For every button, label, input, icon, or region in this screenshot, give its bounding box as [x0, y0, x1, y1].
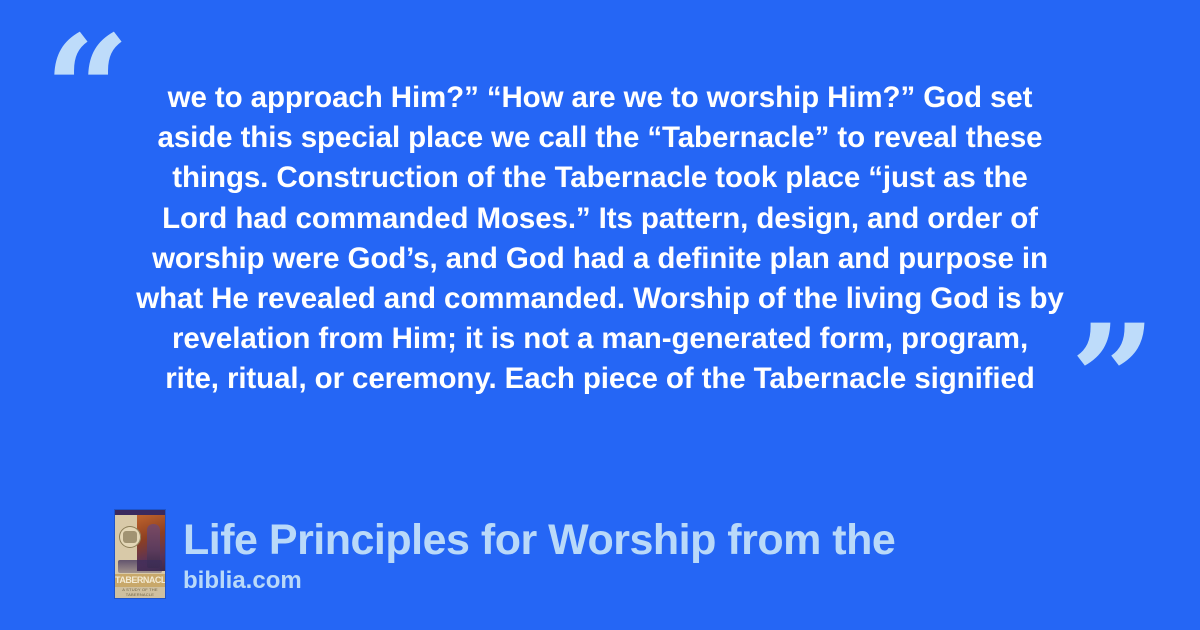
quote-text-block: we to approach Him?” “How are we to wors… — [100, 78, 1100, 400]
quote-line: worship were God’s, and God had a defini… — [100, 239, 1100, 279]
quote-line: what He revealed and commanded. Worship … — [100, 279, 1100, 319]
quote-card: “ we to approach Him?” “How are we to wo… — [0, 0, 1200, 630]
cover-script-text — [118, 560, 162, 573]
cover-emblem-icon — [119, 526, 141, 548]
book-title: Life Principles for Worship from the — [183, 515, 895, 565]
quote-line: we to approach Him?” “How are we to wors… — [100, 78, 1100, 118]
cover-footer-text: A STUDY OF THE TABERNACLE — [115, 587, 165, 597]
site-name[interactable]: biblia.com — [183, 566, 895, 596]
cover-title-text: TABERNACLE — [115, 574, 165, 587]
closing-quote-icon: ” — [1070, 305, 1154, 455]
quote-line: rite, ritual, or ceremony. Each piece of… — [100, 359, 1100, 399]
quote-line: things. Construction of the Tabernacle t… — [100, 158, 1100, 198]
quote-line: revelation from Him; it is not a man-gen… — [100, 319, 1100, 359]
cover-emblem-inner — [123, 531, 137, 543]
quote-line: aside this special place we call the “Ta… — [100, 118, 1100, 158]
footer-text-block: Life Principles for Worship from the bib… — [183, 515, 895, 598]
quote-line: Lord had commanded Moses.” Its pattern, … — [100, 199, 1100, 239]
footer: TABERNACLE A STUDY OF THE TABERNACLE Lif… — [115, 510, 895, 598]
book-cover-thumbnail: TABERNACLE A STUDY OF THE TABERNACLE — [115, 510, 165, 598]
